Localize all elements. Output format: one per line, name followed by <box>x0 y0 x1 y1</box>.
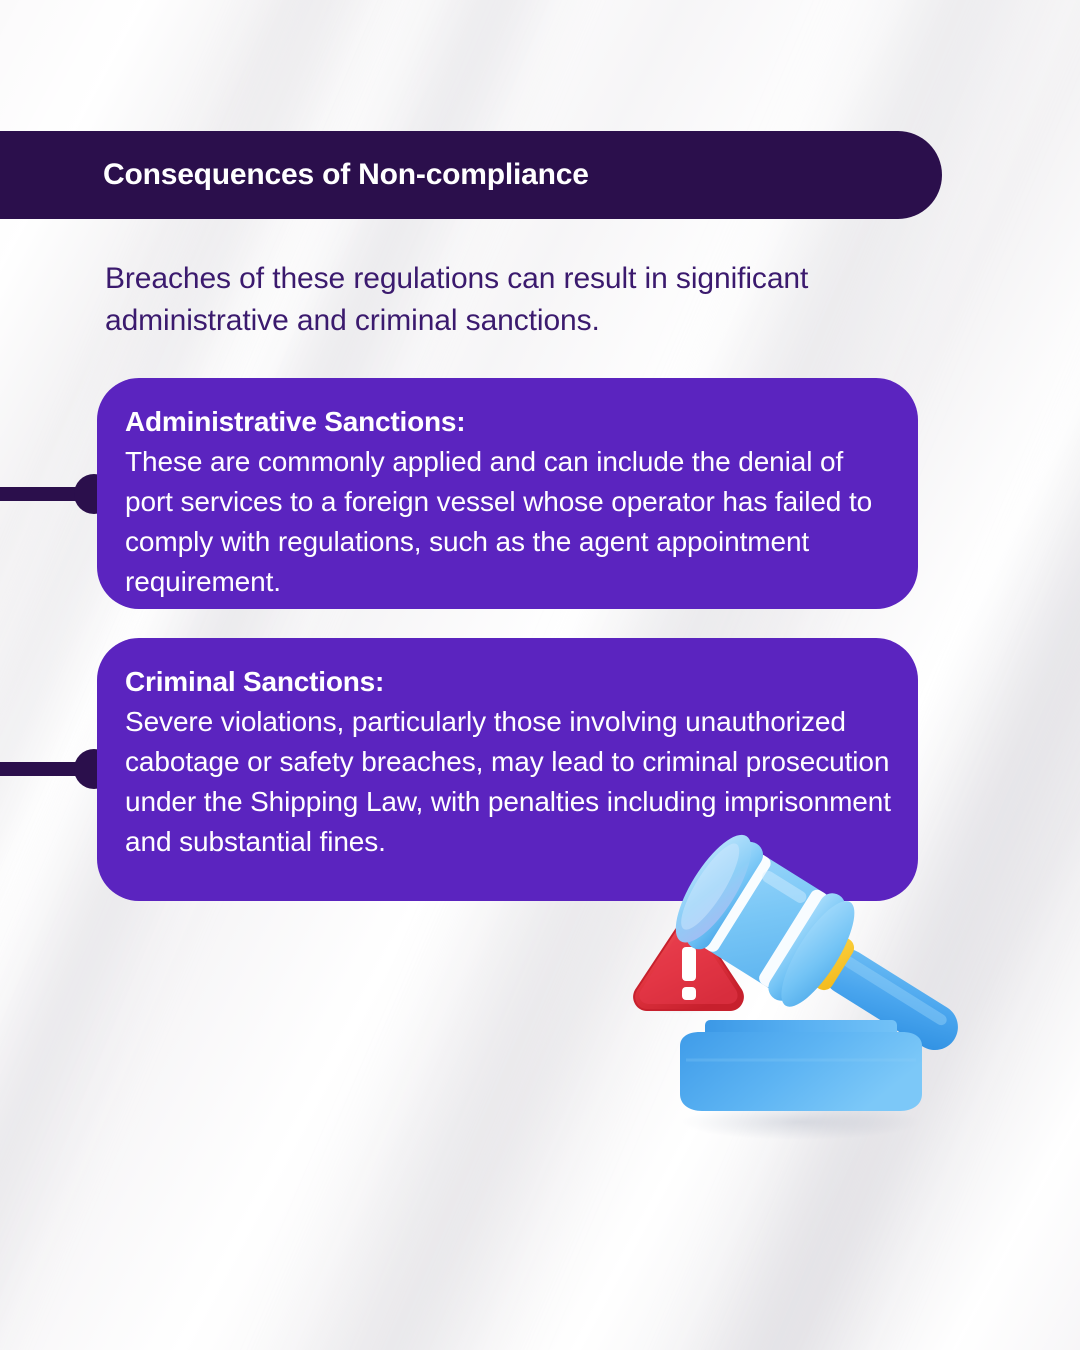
intro-paragraph: Breaches of these regulations can result… <box>105 258 925 342</box>
card-body: These are commonly applied and can inclu… <box>125 442 892 602</box>
gavel-with-warning-illustration <box>620 830 1020 1150</box>
card-heading: Criminal Sanctions: <box>125 662 892 702</box>
sound-block <box>680 1020 922 1111</box>
infographic-slide: Consequences of Non-compliance Breaches … <box>0 0 1080 1350</box>
page-title: Consequences of Non-compliance <box>103 160 589 190</box>
card-administrative-sanctions: Administrative Sanctions: These are comm… <box>97 378 918 609</box>
header-bar: Consequences of Non-compliance <box>0 131 942 219</box>
card-heading: Administrative Sanctions: <box>125 402 892 442</box>
